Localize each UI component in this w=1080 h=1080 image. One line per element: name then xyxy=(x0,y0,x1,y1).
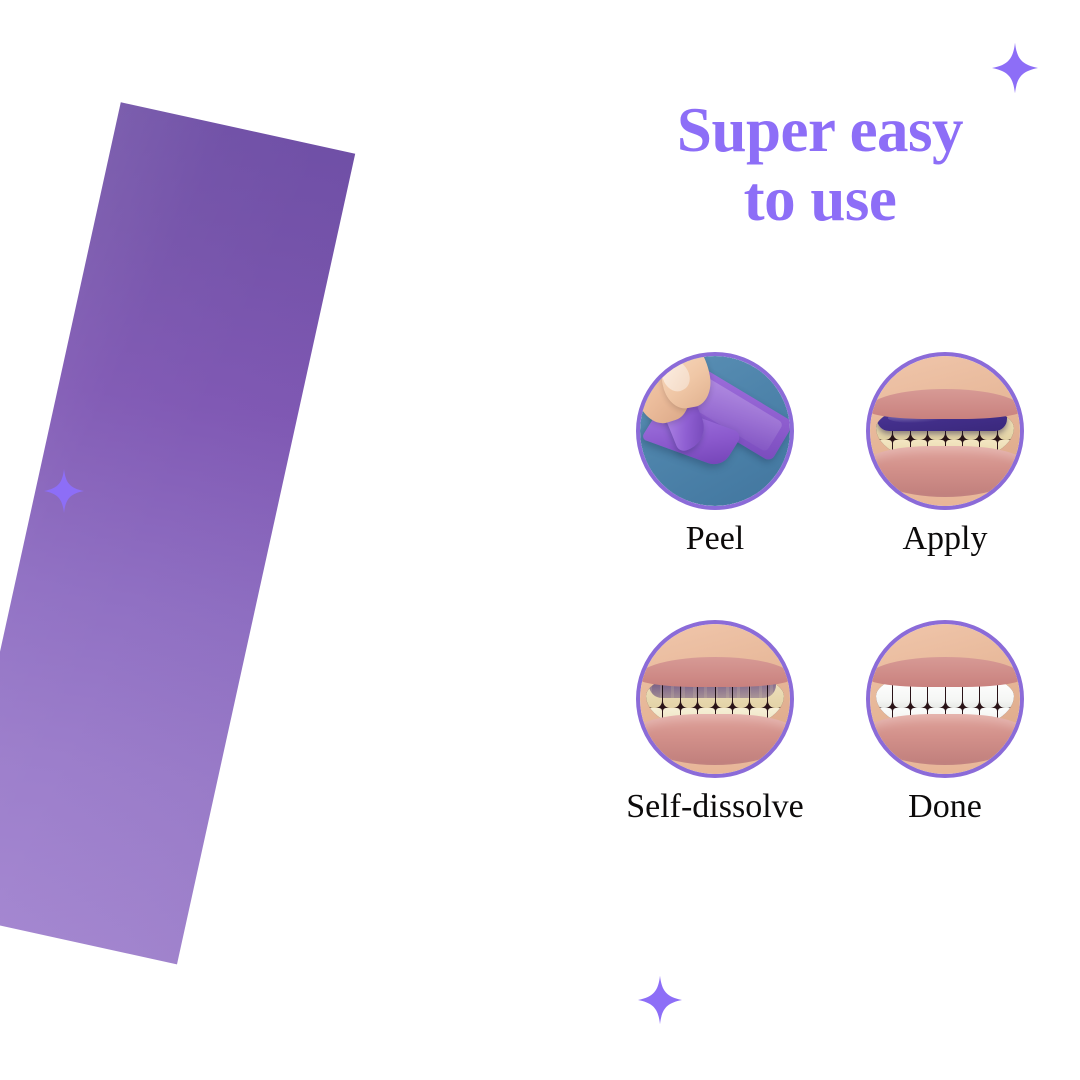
headline-line-1: Super easy xyxy=(600,96,1040,165)
upper-lip xyxy=(640,657,790,687)
page-title: Super easy to use xyxy=(600,96,1040,235)
self-dissolve-photo xyxy=(640,624,790,774)
step-done-thumbnail xyxy=(866,620,1024,778)
steps-grid: Peel xyxy=(612,352,1048,862)
upper-lip xyxy=(870,657,1020,687)
sparkle-icon xyxy=(992,42,1038,94)
step-peel-thumbnail xyxy=(636,352,794,510)
step-done: Done xyxy=(842,620,1048,862)
step-peel: Peel xyxy=(612,352,818,594)
sparkle-icon xyxy=(44,468,84,514)
peel-photo xyxy=(640,356,790,506)
step-apply-thumbnail xyxy=(866,352,1024,510)
step-peel-label: Peel xyxy=(686,522,745,556)
promo-graphic: Super easy to use Peel xyxy=(0,0,1080,1080)
step-self-dissolve-thumbnail xyxy=(636,620,794,778)
hero-whitening-strip xyxy=(0,102,355,964)
step-self-dissolve: Self-dissolve xyxy=(612,620,818,862)
hero-strip-sheen xyxy=(0,102,355,964)
step-apply-label: Apply xyxy=(903,522,988,556)
step-self-dissolve-label: Self-dissolve xyxy=(626,790,804,824)
headline-line-2: to use xyxy=(600,165,1040,234)
step-apply: Apply xyxy=(842,352,1048,594)
sparkle-icon xyxy=(638,975,682,1025)
done-photo xyxy=(870,624,1020,774)
step-done-label: Done xyxy=(908,790,982,824)
apply-photo xyxy=(870,356,1020,506)
upper-lip xyxy=(870,389,1020,419)
